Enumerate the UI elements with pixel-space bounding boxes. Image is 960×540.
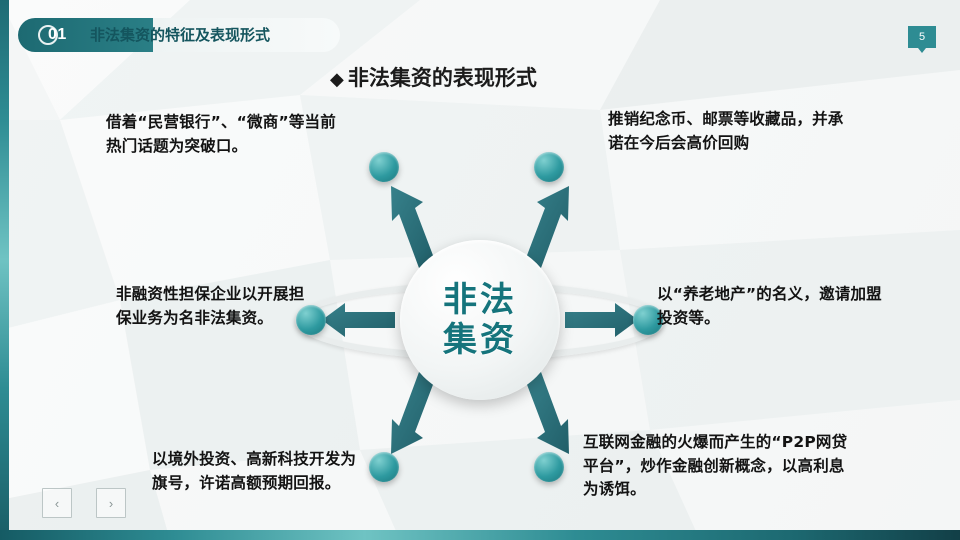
- node-top-right: [534, 152, 564, 182]
- next-slide-button[interactable]: ›: [96, 488, 126, 518]
- center-label-line2: 集资: [443, 320, 517, 360]
- item-text-middle-left: 非融资性担保企业以开展担保业务为名非法集资。: [116, 283, 316, 330]
- item-text-middle-right: 以“养老地产”的名义，邀请加盟投资等。: [657, 283, 897, 330]
- item-text-top-right: 推销纪念币、邮票等收藏品，并承诺在今后会高价回购: [608, 108, 858, 155]
- prev-slide-button[interactable]: ‹: [42, 488, 72, 518]
- center-node: 非法 集资: [400, 240, 560, 400]
- center-label: 非法 集资: [400, 240, 560, 400]
- item-text-bottom-left: 以境外投资、高新科技开发为旗号，许诺高额预期回报。: [152, 448, 367, 495]
- center-label-line1: 非法: [443, 280, 517, 320]
- node-bottom-right: [534, 452, 564, 482]
- node-top-left: [369, 152, 399, 182]
- bottom-accent-bar: [0, 530, 960, 540]
- node-bottom-left: [369, 452, 399, 482]
- slide-canvas: 01 非法集资的特征及表现形式 5 ◆非法集资的表现形式: [0, 0, 960, 540]
- item-text-top-left: 借着“民营银行”、“微商”等当前热门话题为突破口。: [106, 111, 346, 158]
- item-text-bottom-right: 互联网金融的火爆而产生的“P2P网贷平台”，炒作金融创新概念，以高利息为诱饵。: [583, 431, 853, 502]
